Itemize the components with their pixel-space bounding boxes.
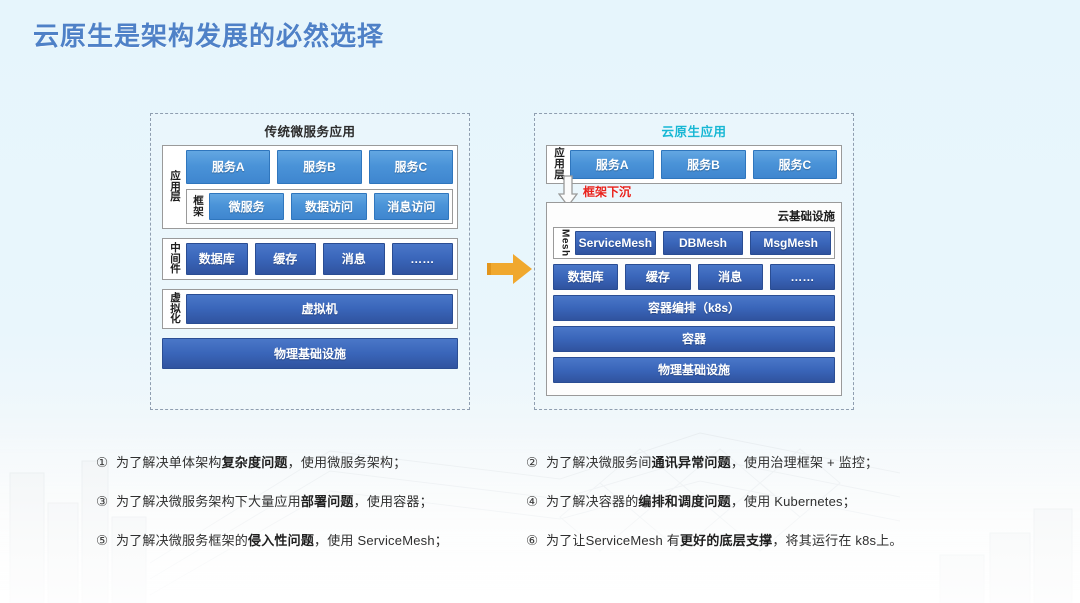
left-middleware-group: 中 间 件 数据库 缓存 消息 …… (162, 238, 458, 280)
middleware-box[interactable]: 消息 (698, 264, 763, 290)
bullet-text: 为了解决微服务架构下大量应用部署问题，使用容器； (116, 491, 433, 510)
bullet-text: 为了让ServiceMesh 有更好的底层支撑，将其运行在 k8s上。 (546, 530, 903, 549)
label-char: 化 (170, 314, 181, 325)
middleware-box-more[interactable]: …… (392, 243, 454, 275)
bullet-item: ① 为了解决单体架构复杂度问题，使用微服务架构； (96, 452, 511, 471)
cloud-panel-title: 云原生应用 (535, 121, 853, 140)
slide-canvas: 云原生是架构发展的必然选择 传统微服务应用 应 用 层 服务A 服务B 服务C … (0, 0, 1080, 603)
mesh-box[interactable]: DBMesh (663, 231, 744, 255)
service-box[interactable]: 服务C (369, 150, 453, 184)
bullet-text: 为了解决微服务间通讯异常问题，使用治理框架 + 监控； (546, 452, 878, 471)
left-virtualization-group: 虚 拟 化 虚拟机 (162, 289, 458, 329)
left-middleware-label: 中 间 件 (168, 243, 183, 275)
right-physical-infrastructure-box[interactable]: 物理基础设施 (553, 357, 835, 383)
framework-box[interactable]: 数据访问 (291, 193, 366, 220)
bullet-item: ④ 为了解决容器的编排和调度问题，使用 Kubernetes； (526, 491, 996, 510)
service-box[interactable]: 服务A (186, 150, 270, 184)
mesh-box[interactable]: ServiceMesh (575, 231, 656, 255)
label-char: 层 (170, 192, 181, 203)
right-arrow-icon (487, 252, 533, 286)
virtual-machine-box[interactable]: 虚拟机 (186, 294, 453, 324)
left-physical-infrastructure-box[interactable]: 物理基础设施 (162, 338, 458, 369)
middleware-box[interactable]: 缓存 (255, 243, 317, 275)
middleware-box[interactable]: 数据库 (186, 243, 248, 275)
mesh-row: ServiceMesh DBMesh MsgMesh (575, 231, 831, 255)
bullet-text: 为了解决容器的编排和调度问题，使用 Kubernetes； (546, 491, 856, 510)
left-middleware-row: 数据库 缓存 消息 …… (186, 243, 453, 275)
middleware-box-more[interactable]: …… (770, 264, 835, 290)
cloud-infrastructure-group: 云基础设施 Mesh ServiceMesh DBMesh MsgMesh 数据… (546, 202, 842, 396)
left-framework-label: 框 架 (191, 193, 206, 220)
right-middleware-row: 数据库 缓存 消息 …… (553, 264, 835, 290)
bullet-number: ⑥ (526, 533, 546, 549)
left-virtualization-row: 虚拟机 (186, 294, 453, 324)
framework-sink-label: 框架下沉 (583, 183, 631, 200)
bullet-item: ③ 为了解决微服务架构下大量应用部署问题，使用容器； (96, 491, 511, 510)
bullet-number: ④ (526, 494, 546, 510)
service-box[interactable]: 服务B (277, 150, 361, 184)
left-application-layer-group: 应 用 层 服务A 服务B 服务C 框 架 微服务 数据访问 (162, 145, 458, 229)
bullet-number: ③ (96, 494, 116, 510)
mesh-group: Mesh ServiceMesh DBMesh MsgMesh (553, 227, 835, 259)
bullet-number: ① (96, 455, 116, 471)
bullet-number: ② (526, 455, 546, 471)
left-application-layer-label: 应 用 层 (168, 150, 183, 224)
bullet-text: 为了解决单体架构复杂度问题，使用微服务架构； (116, 452, 406, 471)
mesh-label: Mesh (558, 231, 572, 255)
middleware-box[interactable]: 缓存 (625, 264, 690, 290)
bullet-item: ⑥ 为了让ServiceMesh 有更好的底层支撑，将其运行在 k8s上。 (526, 530, 996, 549)
traditional-architecture-panel: 传统微服务应用 应 用 层 服务A 服务B 服务C 框 架 (150, 113, 470, 410)
middleware-box[interactable]: 数据库 (553, 264, 618, 290)
traditional-panel-title: 传统微服务应用 (151, 121, 469, 140)
left-framework-row: 微服务 数据访问 消息访问 (209, 193, 449, 220)
cloud-native-architecture-panel: 云原生应用 应 用 层 服务A 服务B 服务C 框架下沉 (534, 113, 854, 410)
bullet-list: ① 为了解决单体架构复杂度问题，使用微服务架构； ② 为了解决微服务间通讯异常问… (96, 452, 996, 549)
bullet-text: 为了解决微服务框架的侵入性问题，使用 ServiceMesh； (116, 530, 448, 549)
cloud-infrastructure-title: 云基础设施 (553, 208, 835, 224)
bullet-number: ⑤ (96, 533, 116, 549)
left-service-row: 服务A 服务B 服务C (186, 150, 453, 184)
label-char: 件 (170, 264, 181, 275)
page-title: 云原生是架构发展的必然选择 (33, 16, 384, 53)
label-char: 架 (193, 207, 204, 218)
framework-box[interactable]: 微服务 (209, 193, 284, 220)
left-virtualization-label: 虚 拟 化 (168, 294, 183, 324)
bullet-item: ⑤ 为了解决微服务框架的侵入性问题，使用 ServiceMesh； (96, 530, 511, 549)
container-box[interactable]: 容器 (553, 326, 835, 352)
bullet-item: ② 为了解决微服务间通讯异常问题，使用治理框架 + 监控； (526, 452, 996, 471)
middleware-box[interactable]: 消息 (323, 243, 385, 275)
framework-box[interactable]: 消息访问 (374, 193, 449, 220)
mesh-box[interactable]: MsgMesh (750, 231, 831, 255)
left-framework-group: 框 架 微服务 数据访问 消息访问 (186, 189, 453, 224)
container-orchestration-box[interactable]: 容器编排（k8s） (553, 295, 835, 321)
